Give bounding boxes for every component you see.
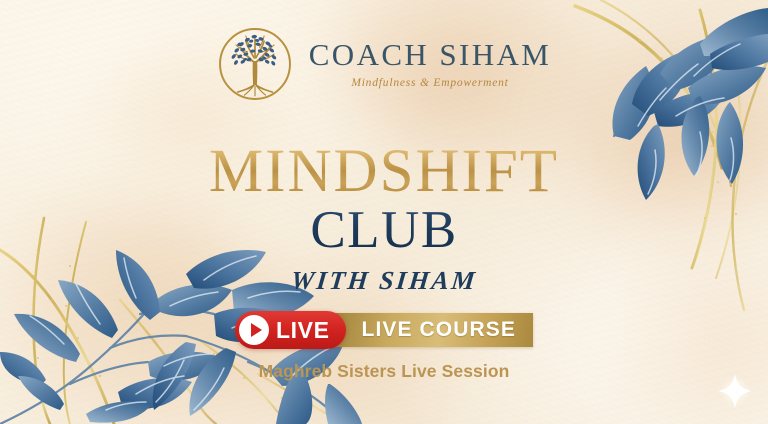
promo-banner: COACH SIHAM Mindfulness & Empowerment MI… <box>0 0 768 424</box>
play-icon <box>239 315 269 345</box>
live-badge-row: LIVE LIVE COURSE <box>0 311 768 349</box>
brand-header: COACH SIHAM Mindfulness & Empowerment <box>0 26 768 102</box>
session-caption: Maghreb Sisters Live Session <box>0 361 768 382</box>
title-line-club: CLUB <box>0 204 768 257</box>
brand-text-block: COACH SIHAM Mindfulness & Empowerment <box>309 39 552 89</box>
title-block: MINDSHIFT CLUB WITH SIHAM <box>0 142 768 296</box>
tree-of-life-icon <box>217 26 293 102</box>
title-line-with-siham: WITH SIHAM <box>0 266 768 296</box>
brand-tagline: Mindfulness & Empowerment <box>351 77 508 89</box>
live-badge[interactable]: LIVE LIVE COURSE <box>235 311 533 349</box>
brand-name: COACH SIHAM <box>309 39 552 70</box>
live-pill-label: LIVE <box>276 317 330 344</box>
title-line-mindshift: MINDSHIFT <box>0 142 768 202</box>
live-pill[interactable]: LIVE <box>235 311 346 349</box>
live-course-label: LIVE COURSE <box>362 318 516 342</box>
